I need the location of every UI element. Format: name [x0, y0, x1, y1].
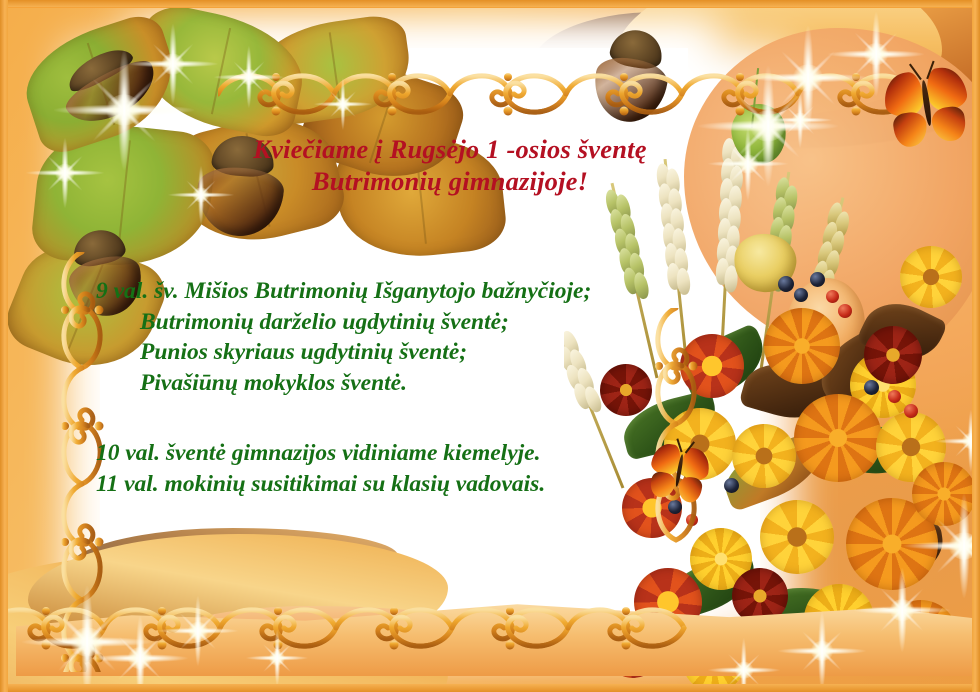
invitation-poster: Kviečiame į Rugsėjo 1 -osios šventę Butr… — [0, 0, 980, 692]
schedule-line-3: Punios skyriaus ugdytinių šventė; — [96, 337, 736, 368]
schedule-line-5: 10 val. šventė gimnazijos vidiniame kiem… — [96, 438, 736, 469]
schedule-line-1: 9 val. šv. Mišios Butrimonių Išganytojo … — [96, 276, 736, 307]
schedule-line-4: Pivašiūnų mokyklos šventė. — [96, 368, 736, 399]
schedule-line-2: Butrimonių darželio ugdytinių šventė; — [96, 307, 736, 338]
schedule-block: 9 val. šv. Mišios Butrimonių Išganytojo … — [96, 276, 736, 499]
schedule-spacer — [96, 398, 736, 438]
title-line-1: Kviečiame į Rugsėjo 1 -osios šventę — [140, 133, 760, 165]
schedule-line-6: 11 val. mokinių susitikimai su klasių va… — [96, 469, 736, 500]
title-line-2: Butrimonių gimnazijoje! — [140, 165, 760, 197]
title-block: Kviečiame į Rugsėjo 1 -osios šventę Butr… — [140, 133, 760, 197]
poster-text-content: Kviečiame į Rugsėjo 1 -osios šventę Butr… — [0, 0, 980, 692]
